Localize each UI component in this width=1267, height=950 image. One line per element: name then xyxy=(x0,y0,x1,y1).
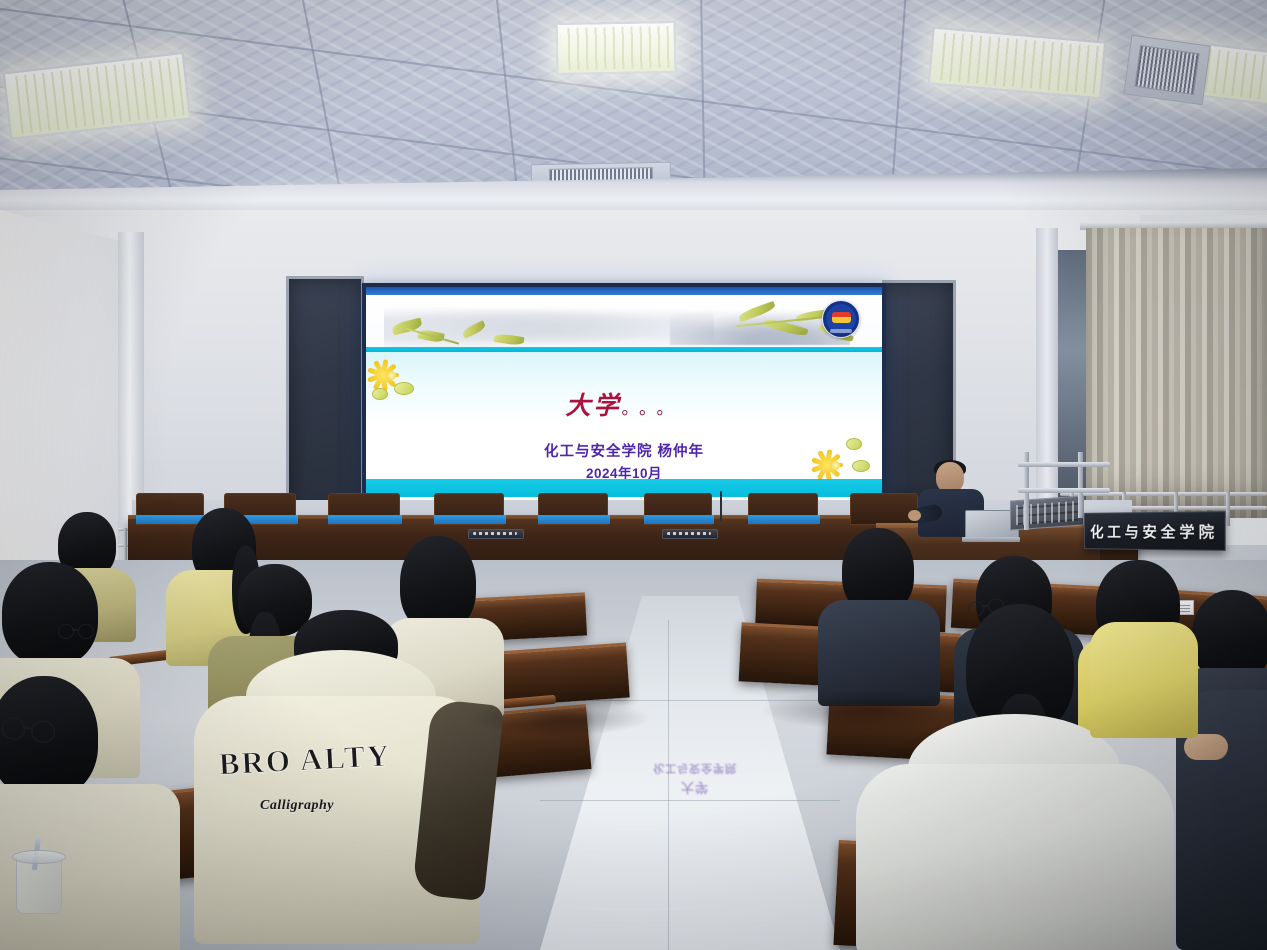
student-mid-right-yellow xyxy=(1090,622,1200,742)
chair-back xyxy=(850,493,918,525)
slide-header-art xyxy=(366,295,882,347)
wall-column-right xyxy=(1036,228,1058,528)
desk-light-strip xyxy=(748,515,820,524)
university-emblem-icon xyxy=(822,300,860,338)
department-sign-label: 化工与安全学院 xyxy=(1090,520,1218,542)
reflection-sub: 化工与安全学院 xyxy=(590,761,800,777)
student-jacket xyxy=(1090,622,1198,738)
eyeglasses-icon xyxy=(58,624,92,637)
floor-slide-reflection: 大学 化工与安全学院 xyxy=(590,752,800,798)
jacket-bottom-text: Calligraphy xyxy=(152,798,442,814)
presenter-hand xyxy=(908,510,921,521)
desk-light-strip xyxy=(644,515,714,524)
window-curtain xyxy=(1086,228,1267,518)
ceiling-hvac-vent-2 xyxy=(1123,35,1211,106)
ceiling-light-2 xyxy=(556,21,677,75)
student-hoodie-body xyxy=(856,764,1174,950)
conference-microphone-unit xyxy=(662,529,718,539)
floor-seam xyxy=(540,800,840,801)
drink-cup xyxy=(12,842,64,912)
slide-body: 大学。。。 化工与安全学院 杨仲年 2024年10月 xyxy=(366,352,882,497)
presentation-slide: 大学。。。 化工与安全学院 杨仲年 2024年10月 xyxy=(366,287,882,515)
slide-top-blue-band xyxy=(366,287,882,295)
laptop-base xyxy=(962,537,1020,542)
bench-shadow xyxy=(760,690,980,730)
slide-title-dots: 。。。 xyxy=(622,399,683,418)
student-hair xyxy=(2,562,98,666)
bench-shadow xyxy=(470,700,650,736)
chalkboard-left xyxy=(286,276,364,520)
desk-light-strip xyxy=(434,515,506,524)
slide-title: 大学。。。 xyxy=(366,386,882,422)
slide-title-main: 大学 xyxy=(565,393,621,420)
student-foreground-lettered-jacket: BRO ALTY Calligraphy xyxy=(186,610,486,950)
cup-lid xyxy=(12,850,66,864)
audio-mixer-console xyxy=(1010,495,1084,530)
microphone-gooseneck xyxy=(720,491,722,521)
slide-subtitle: 化工与安全学院 杨仲年 xyxy=(366,440,882,461)
desk-light-strip xyxy=(538,515,610,524)
department-sign: 化工与安全学院 xyxy=(1084,511,1226,551)
projection-screen: 大学。。。 化工与安全学院 杨仲年 2024年10月 xyxy=(362,283,886,519)
equipment-rack-rail xyxy=(1018,462,1110,467)
equipment-rack-rail xyxy=(1018,488,1110,493)
eyeglasses-icon xyxy=(1,716,54,741)
desk-light-strip xyxy=(328,515,402,524)
lecture-hall-photo: 大学。。。 化工与安全学院 杨仲年 2024年10月 xyxy=(0,0,1267,950)
reflection-main: 大学 xyxy=(681,780,709,795)
